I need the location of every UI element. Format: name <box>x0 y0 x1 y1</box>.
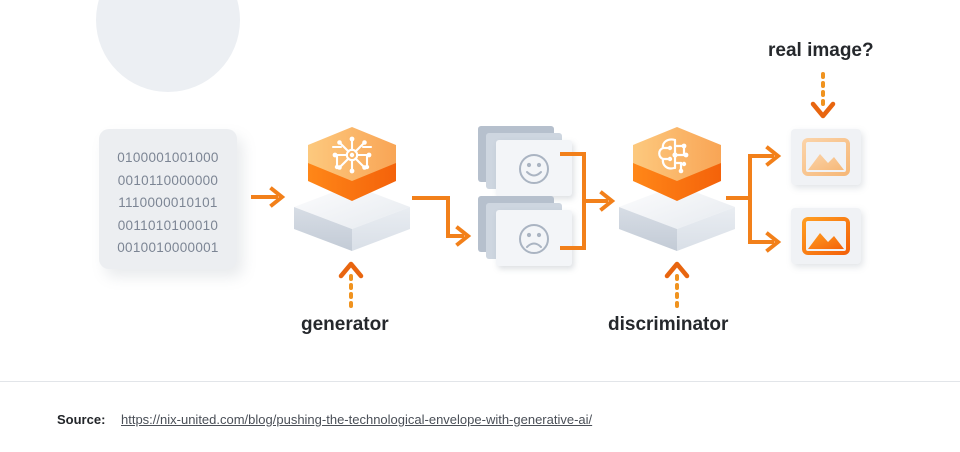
source-label: Source: <box>57 412 105 427</box>
discriminator-to-outputs-split <box>726 140 788 260</box>
binary-line: 0011010100010 <box>99 215 237 238</box>
real-image-question-label: real image? <box>768 40 874 62</box>
sad-face-icon <box>514 222 554 256</box>
diagram-canvas: 0100001001000 0010110000000 111000001010… <box>0 0 960 452</box>
output-image-faded <box>791 129 861 185</box>
ai-brain-circuit-icon <box>651 134 703 178</box>
image-placeholder-icon <box>802 217 850 255</box>
generator-to-samples-elbow <box>412 192 478 254</box>
image-placeholder-icon <box>802 138 850 176</box>
binary-noise-block: 0100001001000 0010110000000 111000001010… <box>99 129 237 269</box>
footer-divider <box>0 381 960 382</box>
decorative-circle <box>96 0 240 92</box>
discriminator-callout-arrow <box>662 258 692 308</box>
binary-line: 0010010000001 <box>99 237 237 260</box>
source-url-link[interactable]: https://nix-united.com/blog/pushing-the-… <box>121 412 592 427</box>
binary-line: 1110000010101 <box>99 192 237 215</box>
discriminator-cube <box>617 125 737 253</box>
real-image-callout-arrow <box>808 72 838 122</box>
noise-to-generator-arrow <box>252 186 286 208</box>
binary-line: 0010110000000 <box>99 170 237 193</box>
generator-label: generator <box>301 314 389 336</box>
generator-cube <box>292 125 412 253</box>
samples-to-discriminator-merge <box>560 148 622 254</box>
output-image-solid <box>791 208 861 264</box>
binary-line: 0100001001000 <box>99 147 237 170</box>
smiley-face-icon <box>514 152 554 186</box>
binary-noise-lines: 0100001001000 0010110000000 111000001010… <box>99 147 237 260</box>
generator-callout-arrow <box>336 258 366 308</box>
neural-network-chip-icon <box>326 134 378 178</box>
discriminator-label: discriminator <box>608 314 728 336</box>
